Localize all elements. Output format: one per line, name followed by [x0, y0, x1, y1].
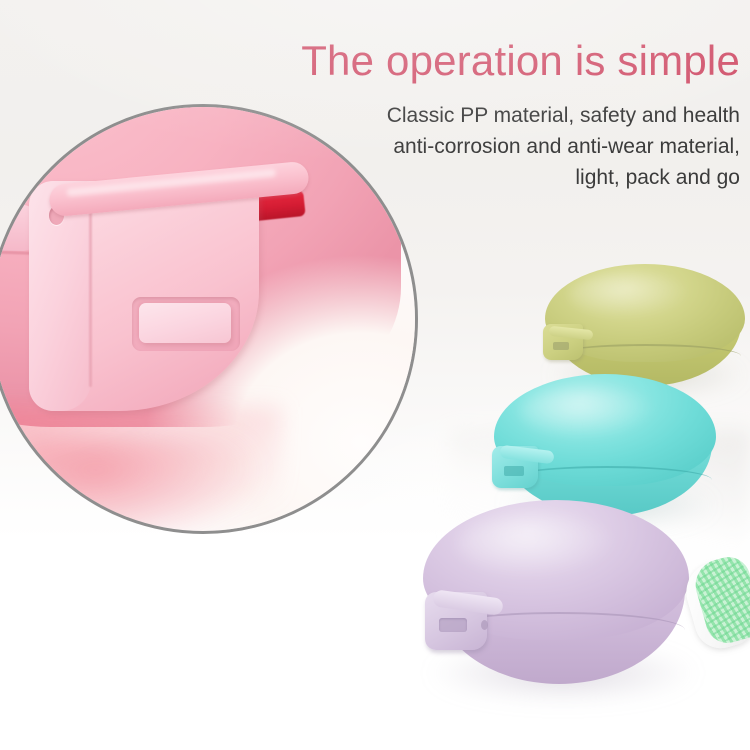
toothbrush — [684, 556, 750, 652]
inset-latch-seam — [89, 187, 92, 387]
purple-box-latch-pivot — [481, 620, 488, 630]
green-box-highlight — [569, 272, 689, 318]
teal-box-highlight — [520, 386, 656, 438]
page-title: The operation is simple — [270, 36, 740, 86]
purple-box-highlight — [457, 514, 617, 576]
soap-box-purple — [423, 500, 698, 700]
teal-box-latch-grip — [504, 466, 524, 476]
product-feature-banner: The operation is simple Classic PP mater… — [0, 0, 750, 750]
inset-pink-reflection-core — [21, 437, 271, 534]
purple-box-latch-grip — [439, 618, 467, 632]
green-box-latch-grip — [553, 342, 569, 350]
inset-thumb-grip — [139, 303, 231, 343]
magnifier-inset-circle — [0, 104, 418, 534]
